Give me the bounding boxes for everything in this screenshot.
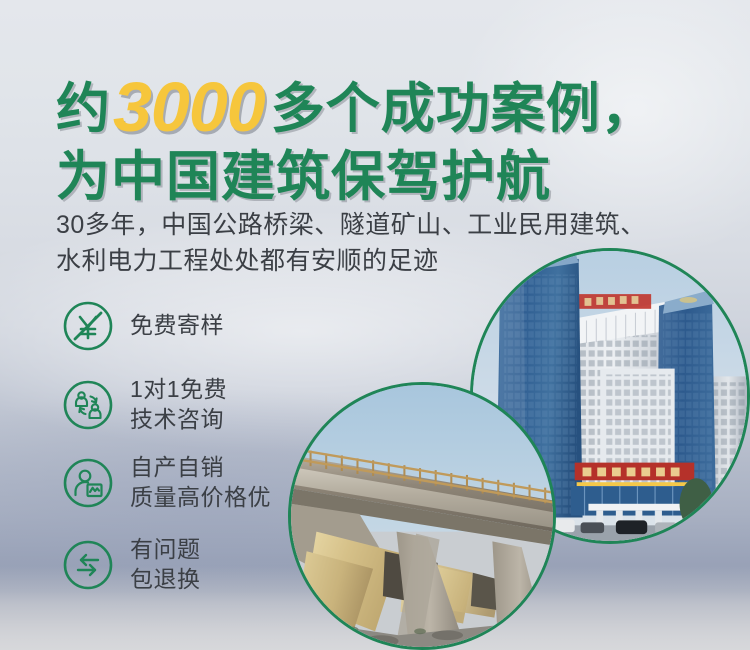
one-to-one-consult-icon bbox=[62, 379, 114, 431]
free-sample-yuan-slash-icon bbox=[62, 300, 114, 352]
feature-item-consultation: 1对1免费 技术咨询 bbox=[62, 376, 362, 434]
return-exchange-icon bbox=[62, 539, 114, 591]
feature-label-line2: 质量高价格优 bbox=[130, 483, 271, 513]
feature-label-line2: 包退换 bbox=[130, 565, 201, 595]
feature-label-return-exchange: 有问题 包退换 bbox=[130, 535, 201, 595]
feature-label-line1: 1对1免费 bbox=[130, 376, 227, 402]
subcopy-line-1: 30多年，中国公路桥梁、隧道矿山、工业民用建筑、 bbox=[56, 208, 726, 244]
headline-prefix: 约 bbox=[56, 79, 111, 139]
feature-label-line1: 免费寄样 bbox=[130, 312, 224, 338]
feature-label-line1: 有问题 bbox=[130, 536, 201, 562]
promo-banner: 约3000多个成功案例， 为中国建筑保驾护航 30多年，中国公路桥梁、隧道矿山、… bbox=[0, 0, 750, 650]
feature-item-self-produce: 自产自销 质量高价格优 bbox=[62, 454, 362, 512]
feature-label-self-produce: 自产自销 质量高价格优 bbox=[130, 453, 271, 513]
headline-line-2: 为中国建筑保驾护航 bbox=[56, 150, 716, 204]
headline: 约3000多个成功案例， 为中国建筑保驾护航 bbox=[56, 72, 716, 204]
feature-label-line1: 自产自销 bbox=[130, 454, 224, 480]
headline-suffix: 多个成功案例， bbox=[271, 79, 656, 139]
feature-label-line2: 技术咨询 bbox=[130, 405, 227, 435]
headline-case-count: 3000 bbox=[111, 68, 271, 146]
feature-item-return-exchange: 有问题 包退换 bbox=[62, 536, 362, 594]
feature-label-free-sample: 免费寄样 bbox=[130, 311, 224, 341]
feature-list: 免费寄样 1对1免费 bbox=[62, 298, 362, 594]
feature-item-free-sample: 免费寄样 bbox=[62, 298, 362, 354]
feature-label-consultation: 1对1免费 技术咨询 bbox=[130, 375, 227, 435]
headline-line-1: 约3000多个成功案例， bbox=[56, 72, 716, 142]
self-produce-sell-icon bbox=[62, 457, 114, 509]
